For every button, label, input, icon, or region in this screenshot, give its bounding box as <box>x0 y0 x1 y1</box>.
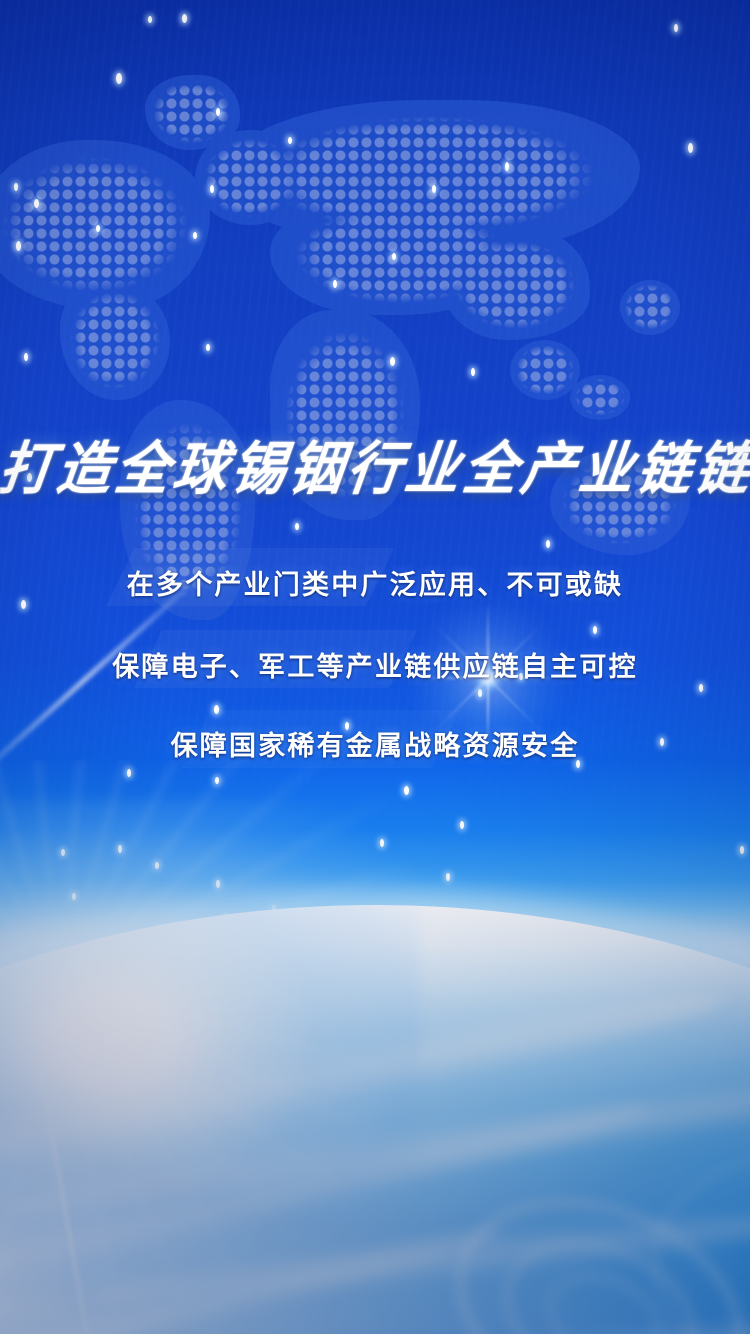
poster-bullet-2: 保障电子、军工等产业链供应链自主可控 <box>0 645 750 684</box>
poster-bullet-3: 保障国家稀有金属战略资源安全 <box>0 724 750 763</box>
poster-canvas: 打造全球锡铟行业全产业链链主 在多个产业门类中广泛应用、不可或缺 保障电子、军工… <box>0 0 750 1334</box>
poster-content: 打造全球锡铟行业全产业链链主 在多个产业门类中广泛应用、不可或缺 保障电子、军工… <box>0 0 750 1334</box>
poster-bullet-1: 在多个产业门类中广泛应用、不可或缺 <box>0 563 750 602</box>
poster-title: 打造全球锡铟行业全产业链链主 <box>0 422 750 506</box>
